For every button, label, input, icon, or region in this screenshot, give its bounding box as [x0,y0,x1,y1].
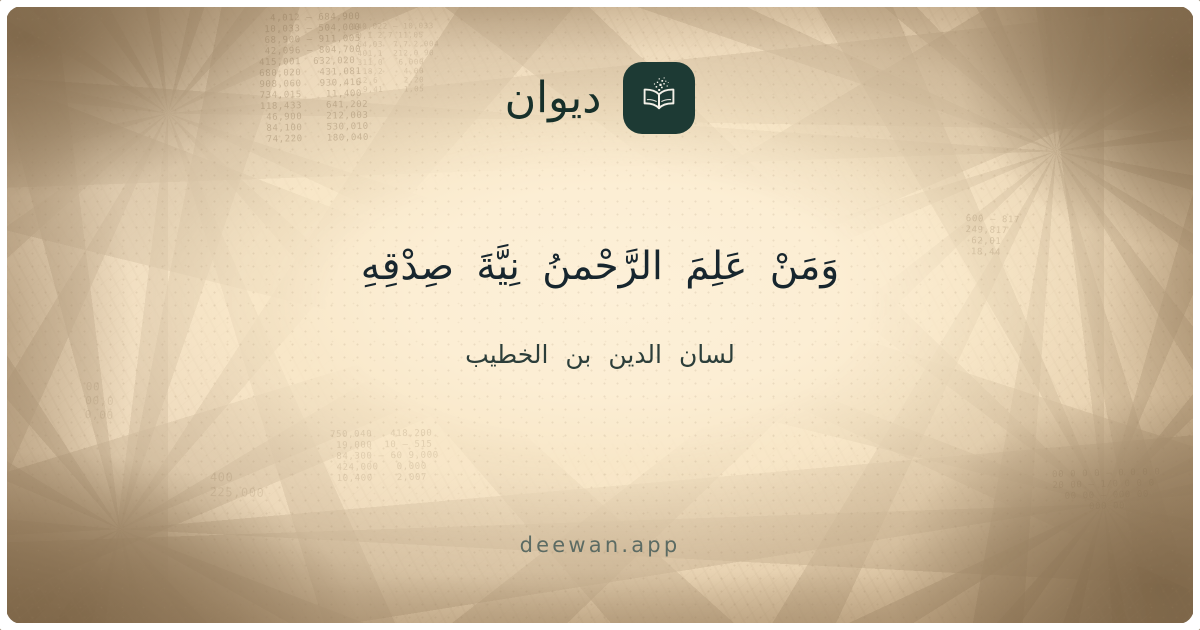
site-url[interactable]: deewan.app [0,533,1200,557]
card-content: ديوان وَمَنْ عَلِمَ الرَّحْمنُ نِيَّةَ ص… [0,0,1200,630]
quote-card: 4,012 – 684,900 10,033 – 504,000 68,900 … [0,0,1200,630]
quote-block: وَمَنْ عَلِمَ الرَّحْمنُ نِيَّةَ صِدْقِه… [0,238,1200,372]
quote-author: لسان الدين بن الخطيب [0,337,1200,372]
open-book-with-sparkles-icon [623,62,695,134]
quote-text: وَمَنْ عَلِمَ الرَّحْمنُ نِيَّةَ صِدْقِه… [0,238,1200,297]
brand-lockup[interactable]: ديوان [505,62,696,134]
brand-name: ديوان [505,77,602,120]
